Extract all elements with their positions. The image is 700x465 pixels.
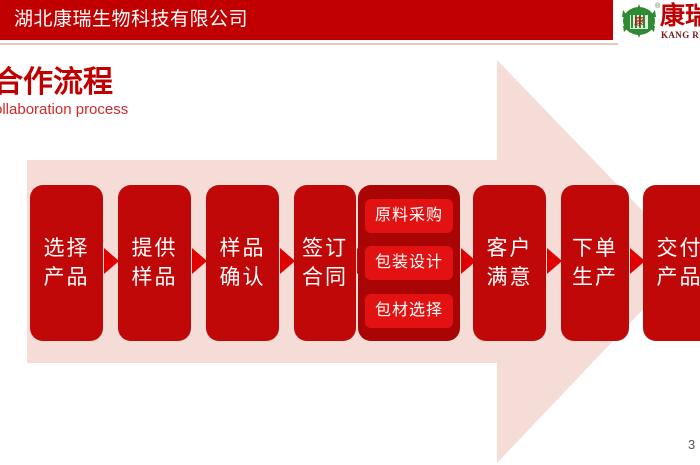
step-label-line: 产品 — [44, 263, 90, 292]
flow-connector-arrow-3 — [280, 248, 295, 274]
step-label-line: 产品 — [657, 263, 700, 292]
step-label-line: 生产 — [572, 263, 618, 292]
flow-connector-arrow-6 — [547, 248, 562, 274]
step-label-line: 下单 — [572, 234, 618, 263]
flow-step-sample-confirm[interactable]: 样品 确认 — [206, 185, 279, 341]
sub-step-label: 包装设计 — [375, 253, 443, 273]
step-label-line: 满意 — [487, 263, 533, 292]
step-label-line: 样品 — [132, 263, 178, 292]
flow-connector-arrow-1 — [104, 248, 119, 274]
step-label-line: 选择 — [44, 234, 90, 263]
step-label-line: 签订 — [302, 234, 348, 263]
sub-step-label: 原料采购 — [375, 206, 443, 226]
flow-step-deliver-product[interactable]: 交付 产品 — [643, 185, 700, 341]
step-label-line: 确认 — [220, 263, 266, 292]
flow-step-sign-contract[interactable]: 签订 合同 — [294, 185, 356, 341]
step-label-line: 客户 — [487, 234, 533, 263]
flow-step-select-product[interactable]: 选择 产品 — [30, 185, 103, 341]
page-number: 3 — [688, 437, 700, 453]
flow-connector-arrow-2 — [192, 248, 207, 274]
flow-step-customer-satisfied[interactable]: 客户 满意 — [473, 185, 546, 341]
step-label-line: 交付 — [657, 234, 700, 263]
step-label-line: 合同 — [302, 263, 348, 292]
step-label-line: 样品 — [220, 234, 266, 263]
flow-step-provide-sample[interactable]: 提供 样品 — [118, 185, 191, 341]
sub-step-label: 包材选择 — [375, 301, 443, 321]
step-label-line: 提供 — [132, 234, 178, 263]
sub-step-package-material[interactable]: 包材选择 — [365, 294, 453, 328]
flow-step-order-production[interactable]: 下单 生产 — [561, 185, 629, 341]
process-flow-diagram: 选择 产品 提供 样品 样品 确认 签订 合同 原料采购 包装设计 包材选择 客… — [0, 0, 700, 465]
flow-step-production-prep[interactable]: 原料采购 包装设计 包材选择 — [358, 185, 460, 341]
sub-step-package-design[interactable]: 包装设计 — [365, 246, 453, 280]
sub-step-material-purchase[interactable]: 原料采购 — [365, 199, 453, 233]
